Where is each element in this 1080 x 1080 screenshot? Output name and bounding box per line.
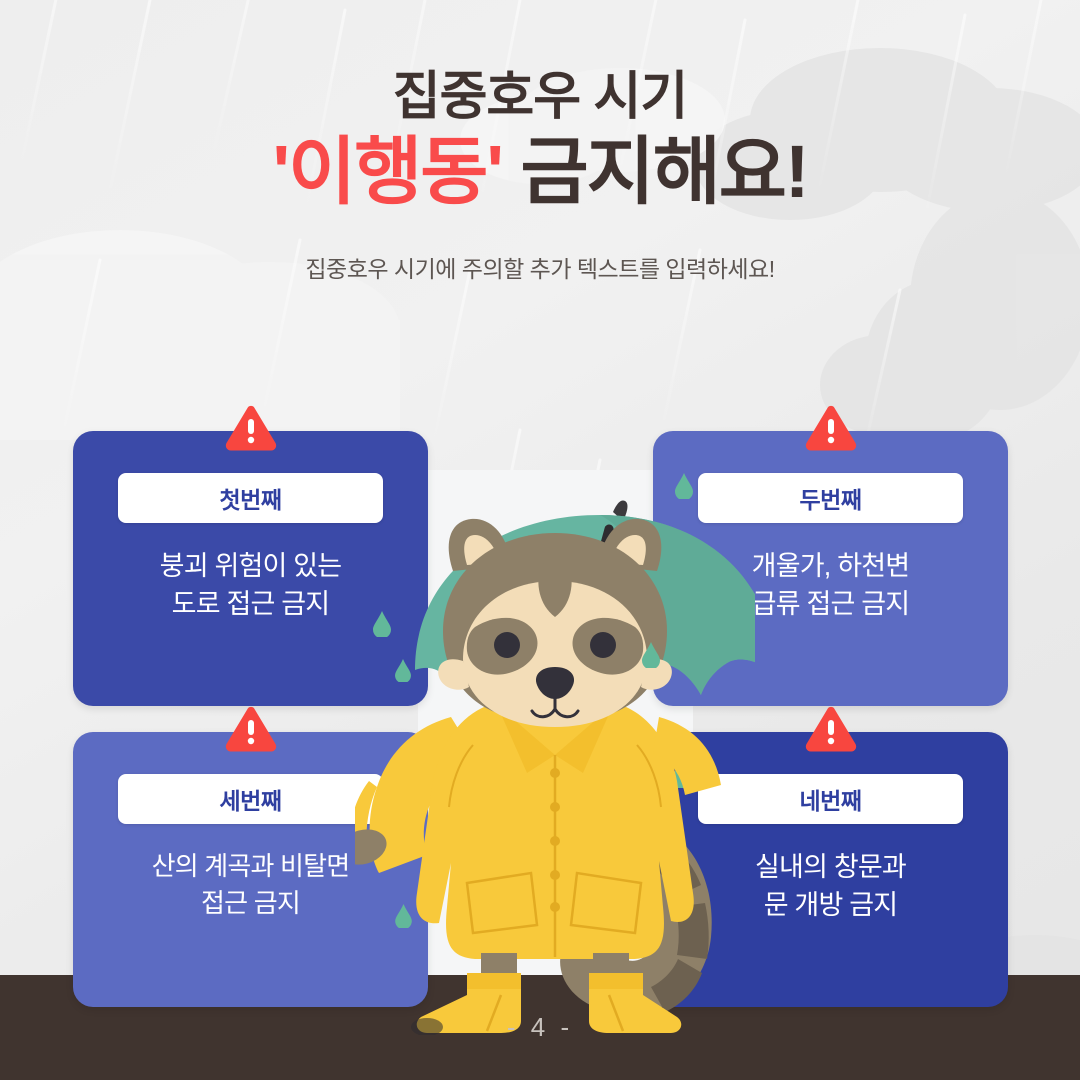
tip-card-3-label-pill: 세번째 <box>118 774 383 824</box>
infographic-page: 집중호우 시기 '이행동' 금지해요! 집중호우 시기에 주의할 추가 텍스트를… <box>0 0 1080 1080</box>
tip-card-3-label: 세번째 <box>220 782 282 816</box>
warning-triangle-icon <box>223 404 279 452</box>
tip-card-4-label: 네번째 <box>800 782 862 816</box>
tip-card-2-label: 두번째 <box>800 481 862 515</box>
warning-triangle-icon <box>803 404 859 452</box>
page-subtitle: 집중호우 시기에 주의할 추가 텍스트를 입력하세요! <box>0 250 1080 284</box>
warning-triangle-icon <box>803 705 859 753</box>
page-number: - 4 - <box>0 1012 1080 1043</box>
raccoon-head <box>438 519 672 727</box>
title-quote-close: ' <box>486 130 502 213</box>
page-header: 집중호우 시기 '이행동' 금지해요! 집중호우 시기에 주의할 추가 텍스트를… <box>0 70 1080 284</box>
tip-card-1-label-pill: 첫번째 <box>118 473 383 523</box>
tip-card-1-label: 첫번째 <box>220 481 282 515</box>
raindrop-icon <box>642 642 660 668</box>
title-rest: 금지해요! <box>502 130 808 213</box>
warning-triangle-icon <box>223 705 279 753</box>
raccoon-in-raincoat-illustration <box>355 455 755 1035</box>
page-title-line-2: '이행동' 금지해요! <box>0 129 1080 214</box>
title-quote-open: ' <box>273 130 289 213</box>
title-accent-word: 이행동 <box>288 130 486 213</box>
page-title-line-1: 집중호우 시기 <box>0 70 1080 125</box>
